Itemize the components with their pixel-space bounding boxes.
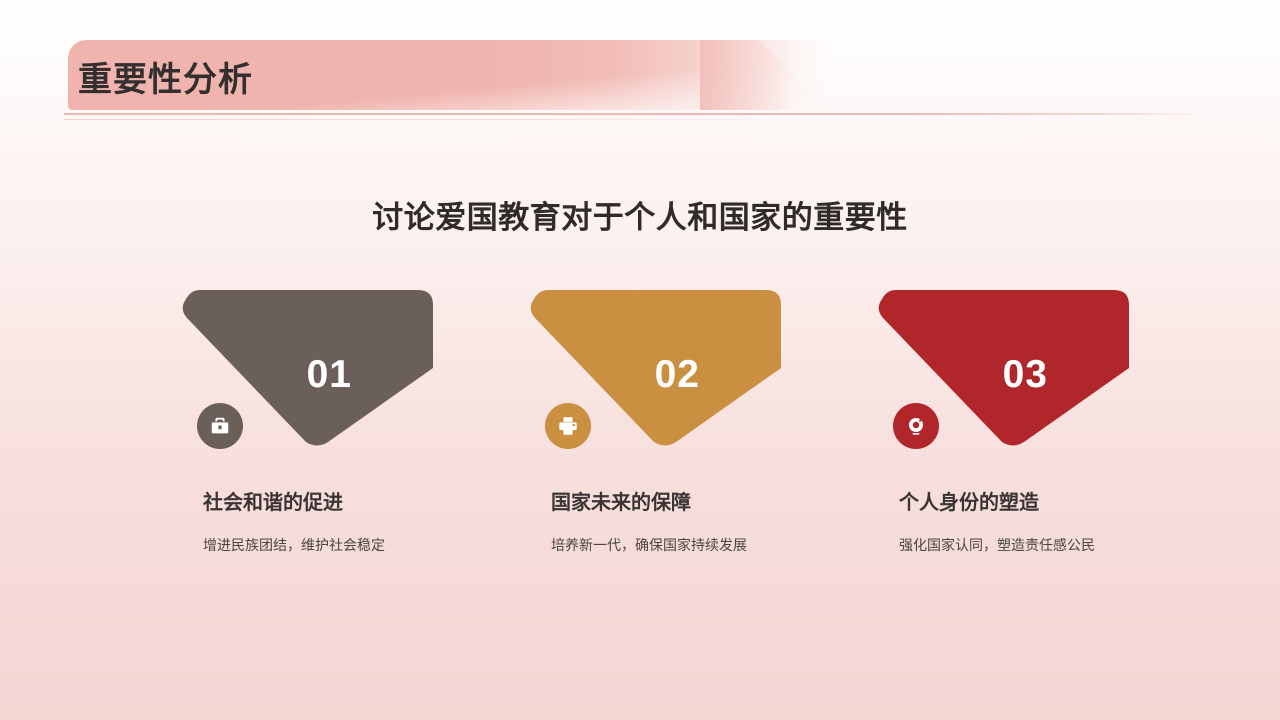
column-title-2: 国家未来的保障: [551, 486, 691, 515]
header-divider-secondary: [64, 119, 824, 120]
column-description-1: 增进民族团结，维护社会稳定: [203, 534, 418, 556]
main-heading: 讨论爱国教育对于个人和国家的重要性: [0, 192, 1280, 237]
printer-icon: [545, 403, 591, 449]
page-title: 重要性分析: [78, 52, 253, 101]
column-title-1: 社会和谐的促进: [203, 486, 343, 515]
column-description-3: 强化国家认同，塑造责任感公民: [899, 534, 1114, 556]
briefcase-icon: [197, 403, 243, 449]
slide-canvas: 重要性分析 讨论爱国教育对于个人和国家的重要性 01 社会和谐的促进 增进民族团…: [0, 0, 1280, 720]
camera-aperture-icon: [893, 403, 939, 449]
column-description-2: 培养新一代，确保国家持续发展: [551, 534, 766, 556]
column-title-3: 个人身份的塑造: [899, 486, 1039, 515]
header-divider-primary: [64, 113, 1212, 115]
